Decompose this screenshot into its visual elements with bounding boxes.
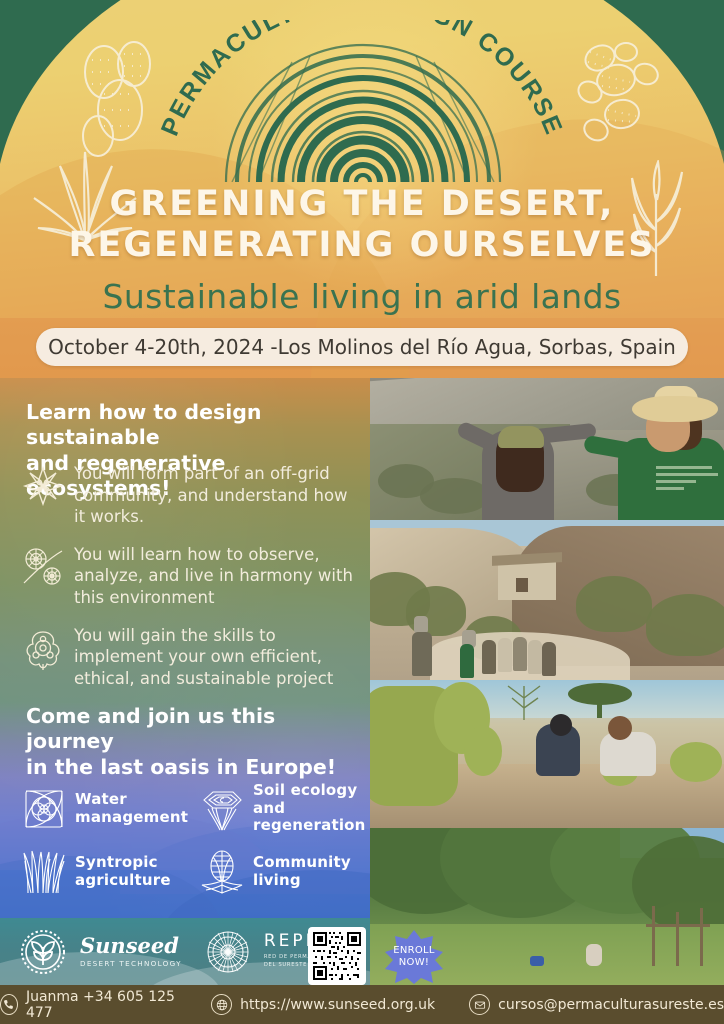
tshirt-print <box>656 464 722 492</box>
phone-icon <box>0 994 18 1015</box>
topic-soil-ecology: Soil ecology and regeneration <box>200 782 370 835</box>
enroll-now-button[interactable]: ENROLL NOW! <box>381 928 447 986</box>
list-item-label: You will gain the skills to implement yo… <box>74 625 358 690</box>
contact-bar: Juanma +34 605 125 477 https://www.sunse… <box>0 985 724 1024</box>
contact-website-text: https://www.sunseed.org.uk <box>240 997 435 1013</box>
poster-root: PERMACULTURE DESIGN COURSE <box>0 0 724 1024</box>
enroll-line-1: ENROLL <box>393 945 435 958</box>
contact-email[interactable]: cursos@permaculturasureste.es <box>469 994 724 1015</box>
sunseed-wordmark: Sunseed DESERT TECHNOLOGY <box>80 935 182 968</box>
topic-water-management: Water management <box>22 782 192 835</box>
repesei-logo-icon <box>206 930 250 974</box>
topic-label: Water management <box>75 791 188 826</box>
photo-collage <box>370 378 724 985</box>
water-mandala-icon <box>22 786 66 832</box>
contact-phone-text: Juanma +34 605 125 477 <box>26 989 177 1021</box>
topic-label: Syntropic agriculture <box>75 854 171 889</box>
enroll-line-2: NOW! <box>399 957 429 970</box>
join-line-2: in the last oasis in Europe! <box>26 755 356 780</box>
arch-rings-logo <box>218 42 508 182</box>
prickly-pear-cactus-icon-right <box>560 30 670 152</box>
list-item-label: You will form part of an off-grid commun… <box>74 463 358 528</box>
palm-tree <box>566 682 636 718</box>
list-item-label: You will learn how to observe, analyze, … <box>74 544 358 609</box>
dandelion-icon <box>22 545 64 589</box>
title-line-2: REGENERATING OURSELVES <box>0 225 724 266</box>
enroll-label: ENROLL NOW! <box>381 928 447 986</box>
join-line-1: Come and join us this journey <box>26 704 356 755</box>
topic-label-line-2: living <box>253 872 351 890</box>
soil-roots-icon <box>200 786 244 832</box>
date-location-banner: October 4-20th, 2024 -Los Molinos del Rí… <box>36 328 688 366</box>
poster-header: PERMACULTURE DESIGN COURSE <box>0 0 724 378</box>
contact-phone[interactable]: Juanma +34 605 125 477 <box>0 989 177 1021</box>
topic-label: Soil ecology and regeneration <box>253 782 370 835</box>
topic-label-line-2: management <box>75 809 188 827</box>
page-title: GREENING THE DESERT, REGENERATING OURSEL… <box>0 184 724 265</box>
list-item: You will form part of an off-grid commun… <box>22 463 358 528</box>
topics-grid: Water management Soil <box>22 782 370 895</box>
topic-syntropic-agriculture: Syntropic agriculture <box>22 849 192 895</box>
topic-community-living: Community living <box>200 849 370 895</box>
topic-label-line-2: regeneration <box>253 817 370 835</box>
content-panel: Learn how to design sustainable and rege… <box>0 378 370 918</box>
list-item: You will learn how to observe, analyze, … <box>22 544 358 609</box>
lead-line-1: Learn how to design sustainable <box>26 400 356 451</box>
sunseed-logo-icon <box>20 929 66 975</box>
page-subtitle: Sustainable living in arid lands <box>0 277 724 316</box>
thistle-icon <box>200 849 244 895</box>
globe-icon <box>211 994 232 1015</box>
star-flower-icon <box>22 464 64 508</box>
photo-planting-with-cactus <box>370 680 724 828</box>
prickly-pear-cactus-icon-left <box>76 36 162 160</box>
contact-email-text: cursos@permaculturasureste.es <box>498 997 724 1013</box>
sunseed-tagline: DESERT TECHNOLOGY <box>80 959 182 968</box>
envelope-icon <box>469 994 490 1015</box>
photo-pointing-at-hillside <box>370 378 724 520</box>
join-heading: Come and join us this journey in the las… <box>26 704 356 780</box>
grass-icon <box>22 849 66 895</box>
photo-group-hiking-canyon <box>370 520 724 680</box>
blossom-icon <box>22 626 64 670</box>
tree-silhouette <box>494 680 554 720</box>
qr-code[interactable] <box>308 927 366 985</box>
topic-label: Community living <box>253 854 351 889</box>
topic-label-line-1: Soil ecology and <box>253 782 370 817</box>
title-line-1: GREENING THE DESERT, <box>0 184 724 225</box>
list-item: You will gain the skills to implement yo… <box>22 625 358 690</box>
topic-label-line-1: Syntropic <box>75 854 171 872</box>
benefits-list: You will form part of an off-grid commun… <box>22 463 358 705</box>
sunseed-name: Sunseed <box>80 935 182 956</box>
topic-label-line-1: Water <box>75 791 188 809</box>
contact-website[interactable]: https://www.sunseed.org.uk <box>211 994 435 1015</box>
topic-label-line-1: Community <box>253 854 351 872</box>
topic-label-line-2: agriculture <box>75 872 171 890</box>
